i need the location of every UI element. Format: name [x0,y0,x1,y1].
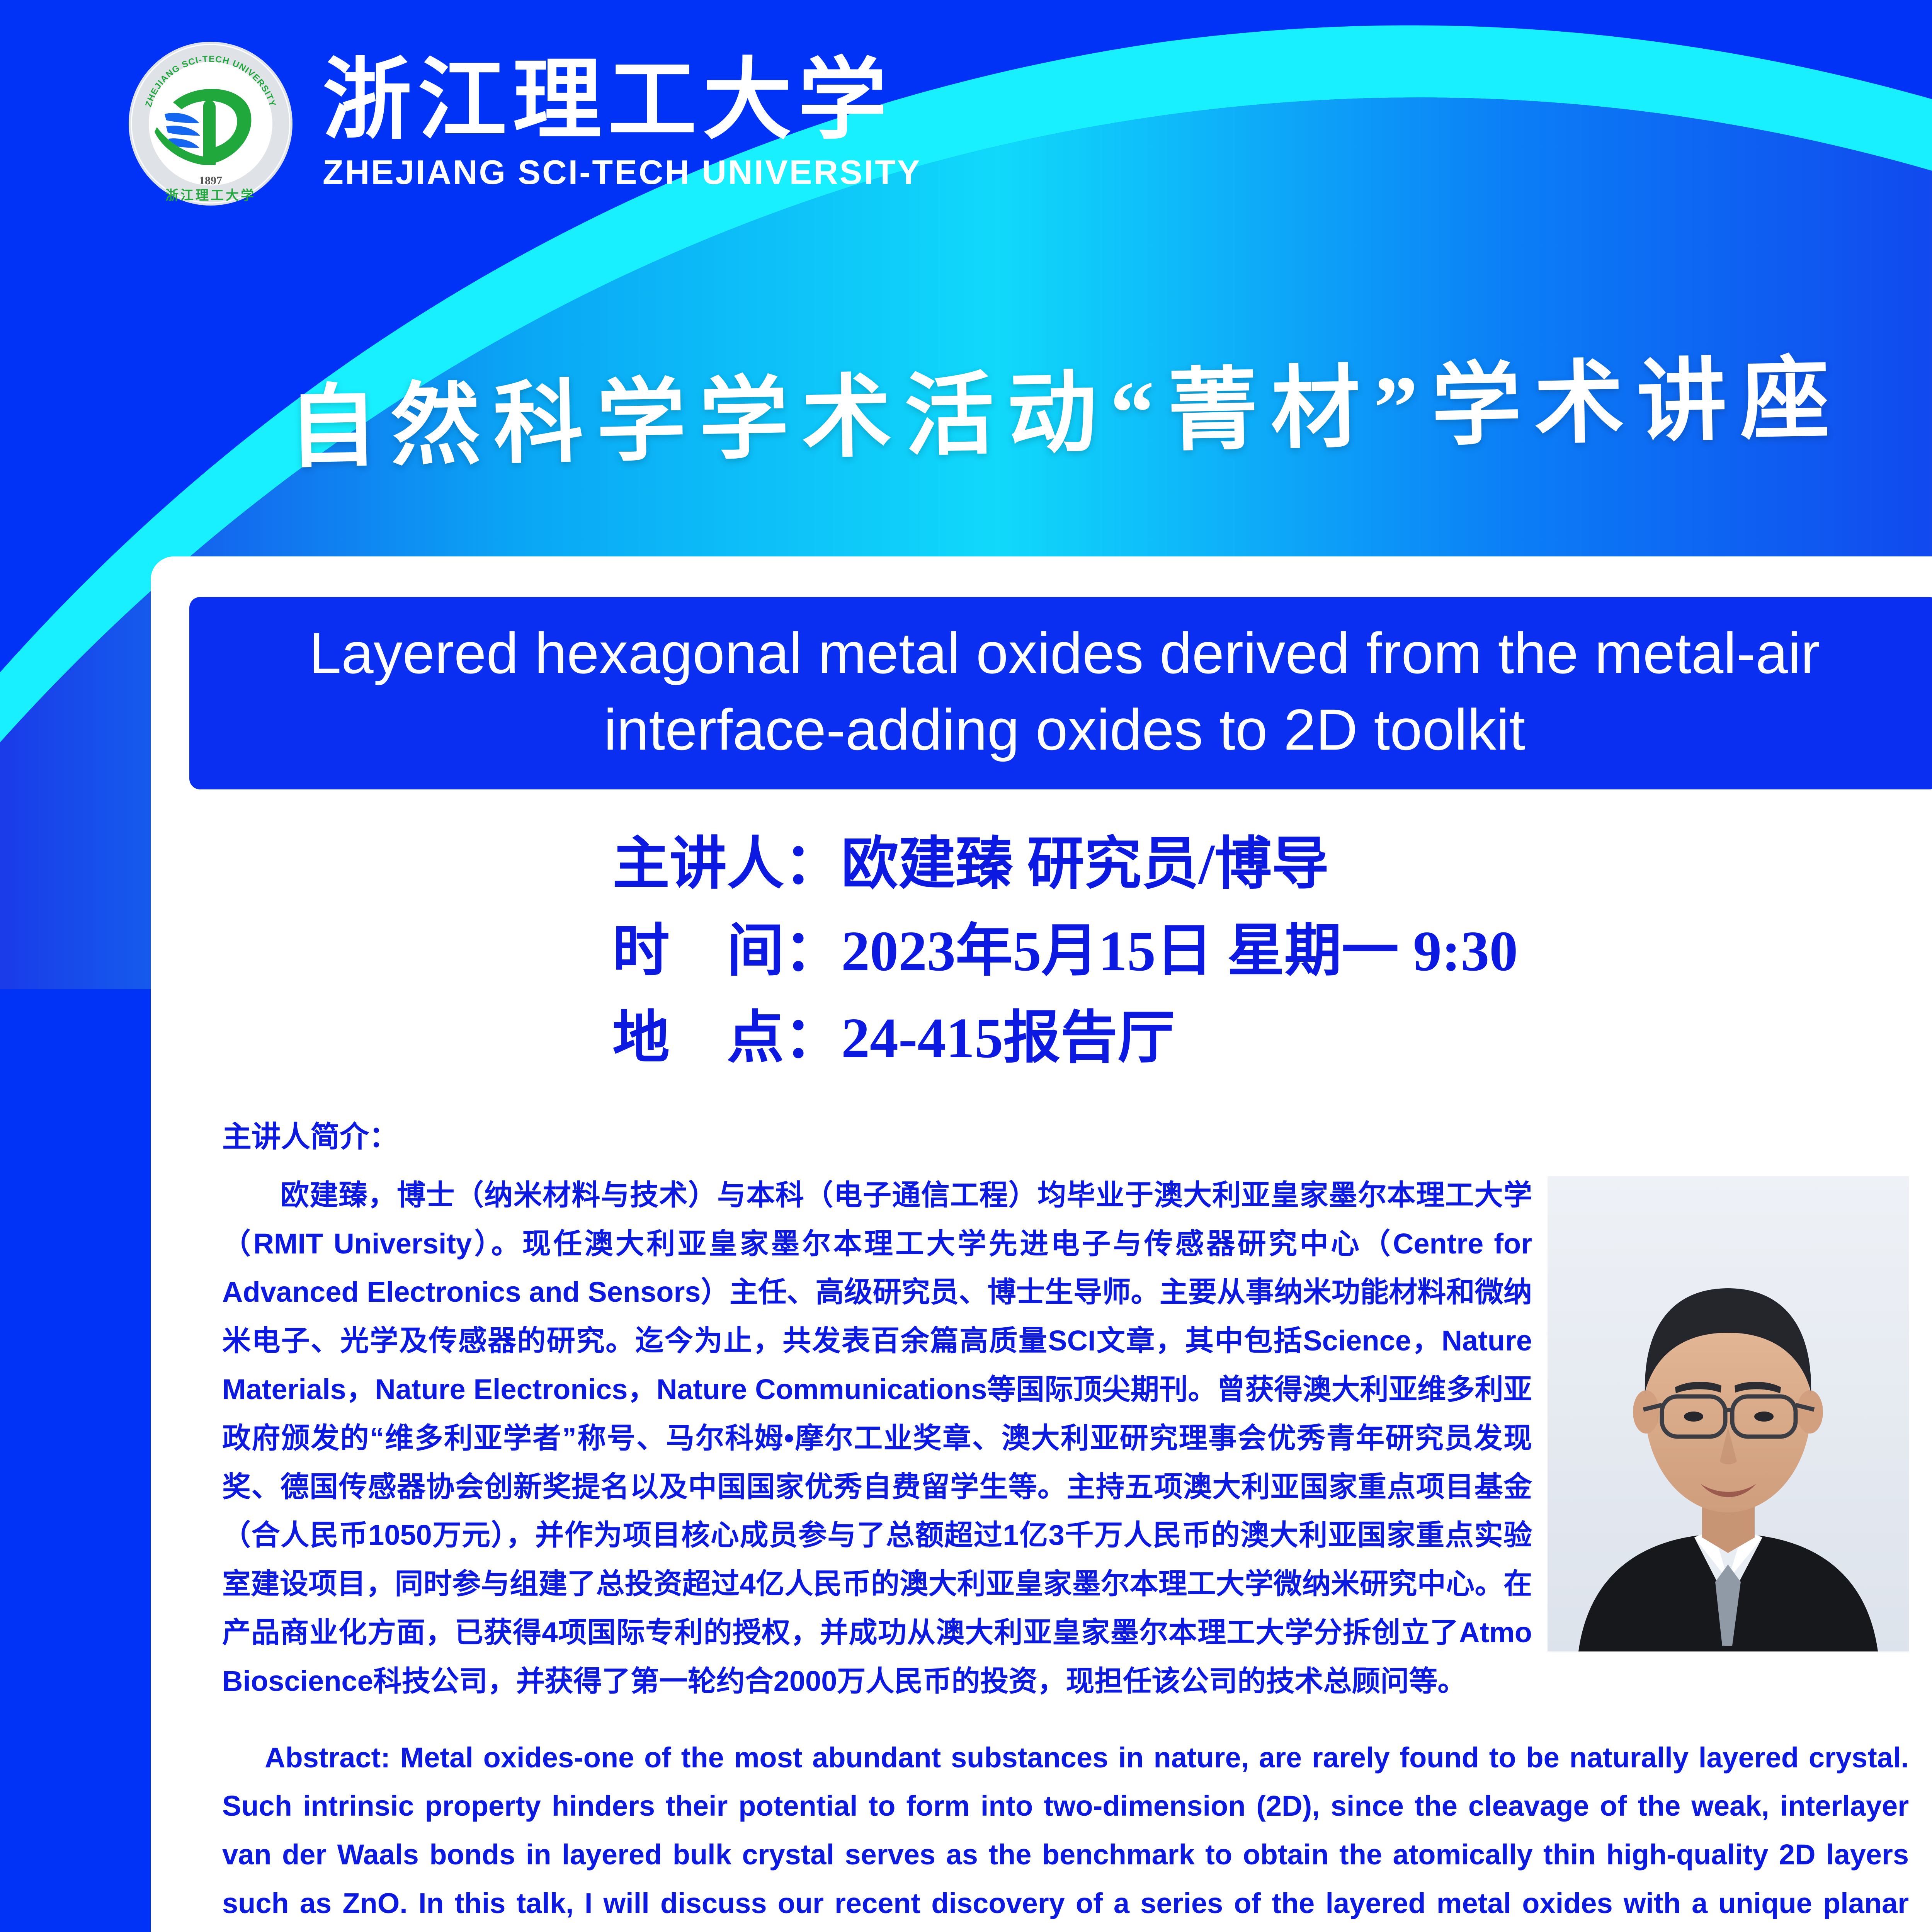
university-name-en: ZHEJIANG SCI-TECH UNIVERSITY [323,154,921,191]
bio-heading: 主讲人简介： [151,1113,1932,1155]
university-name-cn: 浙江理工大学 [323,56,921,145]
speaker-portrait [1548,1176,1909,1651]
event-meta-block: 主讲人：欧建臻 研究员/博导 时 间：2023年5月15日 星期一 9:30 地… [151,821,1932,1082]
portrait-illustration [1548,1176,1909,1651]
meta-row-time: 时 间：2023年5月15日 星期一 9:30 [612,908,1932,995]
talk-title-line-1: Layered hexagonal metal oxides derived f… [309,621,1820,685]
seal-bottom-cn: 浙江理工大学 [165,188,256,203]
talk-title-bar: Layered hexagonal metal oxides derived f… [189,597,1932,789]
university-seal-icon: ZHEJIANG SCI-TECH UNIVERSITY 1897 浙江理工大学 [128,41,294,207]
poster-root: ZHEJIANG SCI-TECH UNIVERSITY 1897 浙江理工大学… [0,0,1932,1932]
header-logo-bar: ZHEJIANG SCI-TECH UNIVERSITY 1897 浙江理工大学… [0,0,1932,247]
seal-year: 1897 [199,174,222,187]
meta-row-speaker: 主讲人：欧建臻 研究员/博导 [612,821,1932,908]
abstract-text: Abstract: Metal oxides-one of the most a… [222,1733,1909,1932]
university-wordmark: 浙江理工大学 ZHEJIANG SCI-TECH UNIVERSITY [323,56,921,191]
meta-row-place: 地 点：24-415报告厅 [612,995,1932,1082]
bio-section: 欧建臻，博士（纳米材料与技术）与本科（电子通信工程）均毕业于澳大利亚皇家墨尔本理… [222,1171,1909,1706]
content-card: Layered hexagonal metal oxides derived f… [151,556,1932,1932]
talk-title-line-2: interface-adding oxides to 2D toolkit [604,697,1526,762]
